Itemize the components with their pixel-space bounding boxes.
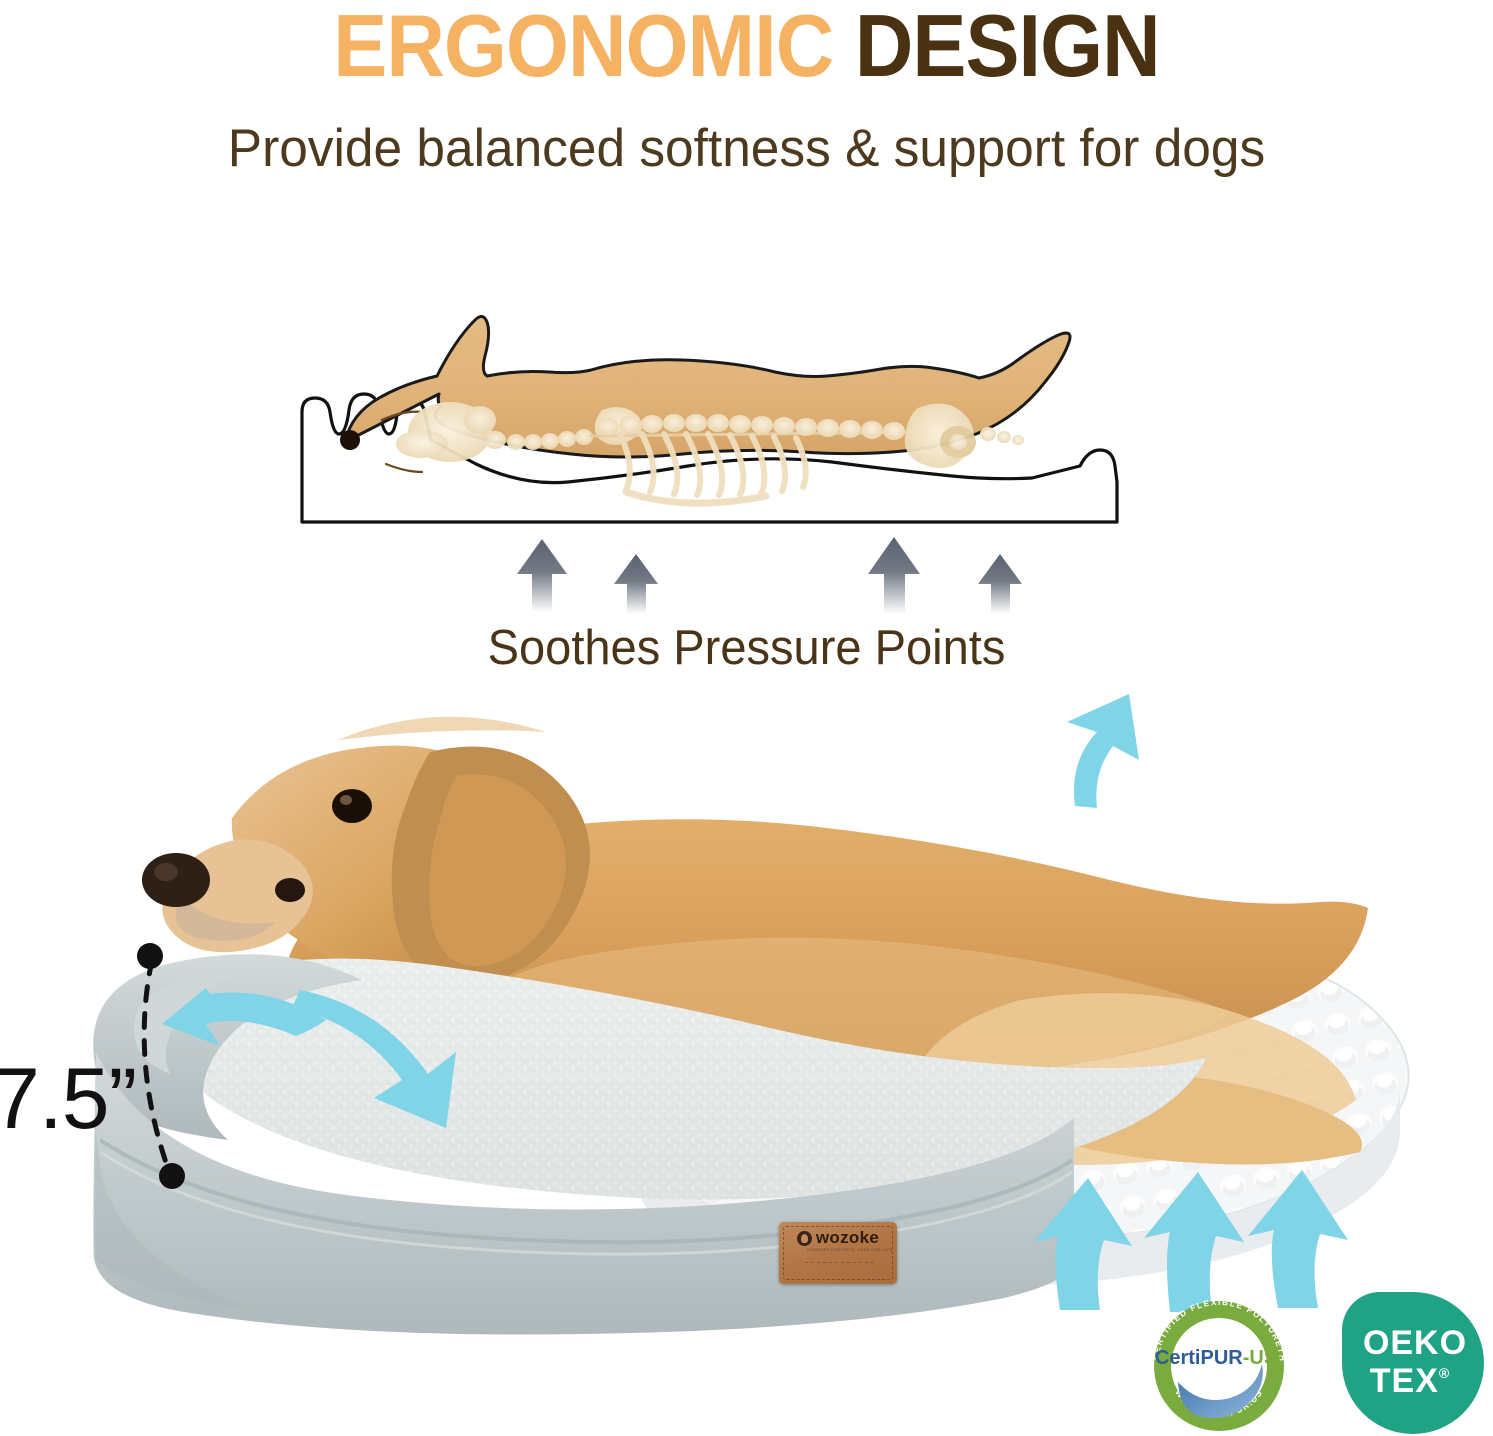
dog-nose (142, 853, 210, 907)
pressure-arrow (868, 537, 920, 614)
oeko-line1: OEKO (1363, 1324, 1467, 1362)
brand-tagline: COMFORT FOR PETS, LOVE FOR LIFE (807, 1247, 893, 1252)
measure-dot-bottom (159, 1163, 185, 1189)
title-rest: DESIGN (833, 0, 1159, 95)
height-value: 7.5” (0, 1050, 136, 1149)
wozoke-logo-icon (797, 1231, 812, 1246)
certipur-us-badge: CONTAINS CERTIFIED FLEXIBLE POLYURETHANE… (1142, 1290, 1297, 1436)
tag-stitch-line (805, 1262, 875, 1263)
pressure-arrow (614, 554, 658, 614)
certipur-wordmark: CertiPUR-US® (1155, 1347, 1283, 1369)
pressure-arrow (978, 554, 1022, 614)
oeko-tex-badge: OEKO TEX® (1338, 1288, 1488, 1436)
pressure-point-diagram (290, 292, 1250, 592)
support-arrow-top (1067, 694, 1139, 808)
page-title: ERGONOMIC DESIGN (60, 0, 1434, 93)
oeko-line2: TEX® (1370, 1362, 1450, 1400)
title-highlight: ERGONOMIC (333, 0, 833, 95)
brand-name: wozoke (816, 1228, 879, 1248)
pressure-arrows (517, 537, 1022, 614)
measure-dot-top (137, 943, 163, 969)
diagram-caption: Soothes Pressure Points (30, 620, 1463, 676)
pressure-arrow (517, 539, 567, 612)
dog-eye (332, 789, 372, 823)
dog-nose (340, 430, 360, 450)
brand-tag: wozoke COMFORT FOR PETS, LOVE FOR LIFE (779, 1222, 897, 1284)
measure-dashed-line (144, 960, 170, 1174)
page-subtitle: Provide balanced softness & support for … (22, 118, 1470, 179)
product-feature-image: ERGONOMIC DESIGN Provide balanced softne… (0, 0, 1493, 1436)
